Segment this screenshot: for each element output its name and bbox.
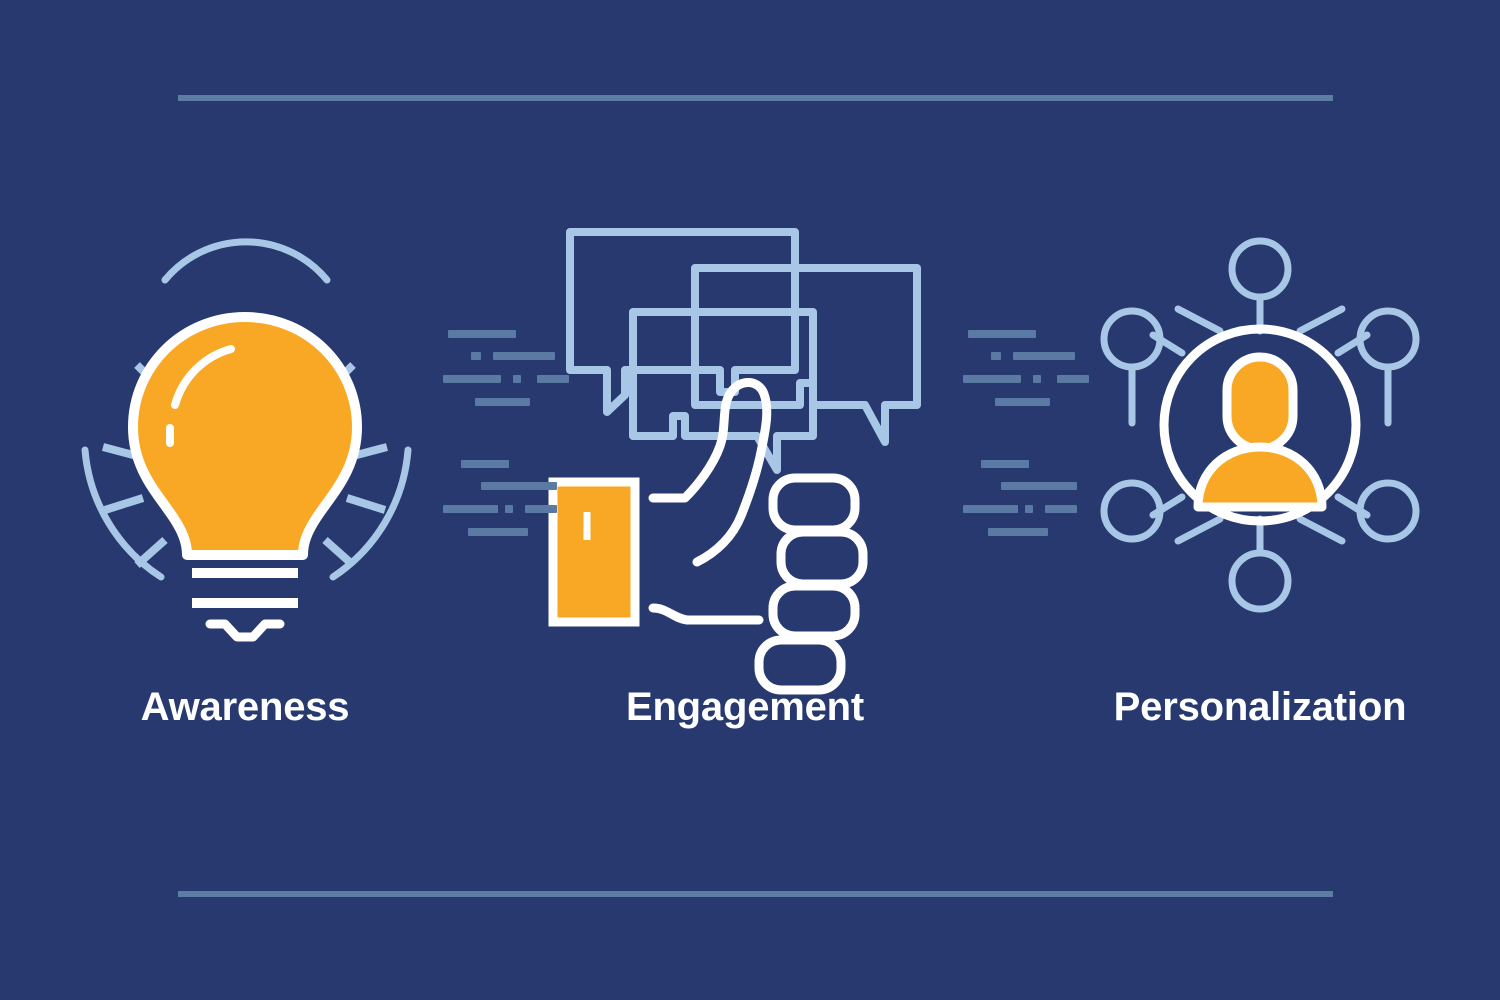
text-dash bbox=[981, 460, 1029, 468]
text-dash bbox=[1033, 375, 1041, 383]
text-dash bbox=[513, 375, 521, 383]
text-dash bbox=[537, 375, 569, 383]
text-dash bbox=[1001, 482, 1077, 490]
bottom-divider bbox=[178, 891, 1333, 897]
text-dash bbox=[1057, 375, 1089, 383]
text-dash bbox=[475, 398, 530, 406]
text-dash bbox=[995, 398, 1050, 406]
text-dash bbox=[481, 482, 557, 490]
text-dash bbox=[963, 505, 1018, 513]
text-dash bbox=[525, 505, 557, 513]
text-dash bbox=[505, 505, 513, 513]
panel-label-awareness: Awareness bbox=[35, 685, 455, 730]
connector-awareness-engagement bbox=[443, 330, 573, 545]
panel-row: Awareness bbox=[0, 0, 1500, 1000]
text-dash bbox=[1045, 505, 1077, 513]
text-dash bbox=[443, 375, 501, 383]
text-dash bbox=[443, 505, 498, 513]
text-dash bbox=[991, 352, 1001, 360]
panel-personalization[interactable]: Personalization bbox=[1050, 215, 1470, 775]
panel-label-personalization: Personalization bbox=[1050, 685, 1470, 730]
panel-awareness[interactable]: Awareness bbox=[35, 215, 455, 775]
infographic-canvas: Awareness bbox=[0, 0, 1500, 1000]
text-dash bbox=[988, 528, 1048, 536]
text-dash bbox=[1013, 352, 1075, 360]
panel-engagement[interactable]: Engagement bbox=[535, 215, 955, 775]
text-dash bbox=[468, 528, 528, 536]
user-network-icon bbox=[1050, 215, 1470, 635]
text-dash bbox=[448, 330, 516, 338]
text-dash bbox=[471, 352, 481, 360]
speech-bubbles-thumbs-up-icon bbox=[535, 215, 955, 635]
text-dash bbox=[461, 460, 509, 468]
lightbulb-icon bbox=[35, 215, 455, 635]
text-dash bbox=[963, 375, 1021, 383]
text-dash bbox=[1025, 505, 1033, 513]
text-dash bbox=[968, 330, 1036, 338]
connector-engagement-personalization bbox=[963, 330, 1093, 545]
text-dash bbox=[493, 352, 555, 360]
panel-label-engagement: Engagement bbox=[535, 685, 955, 730]
